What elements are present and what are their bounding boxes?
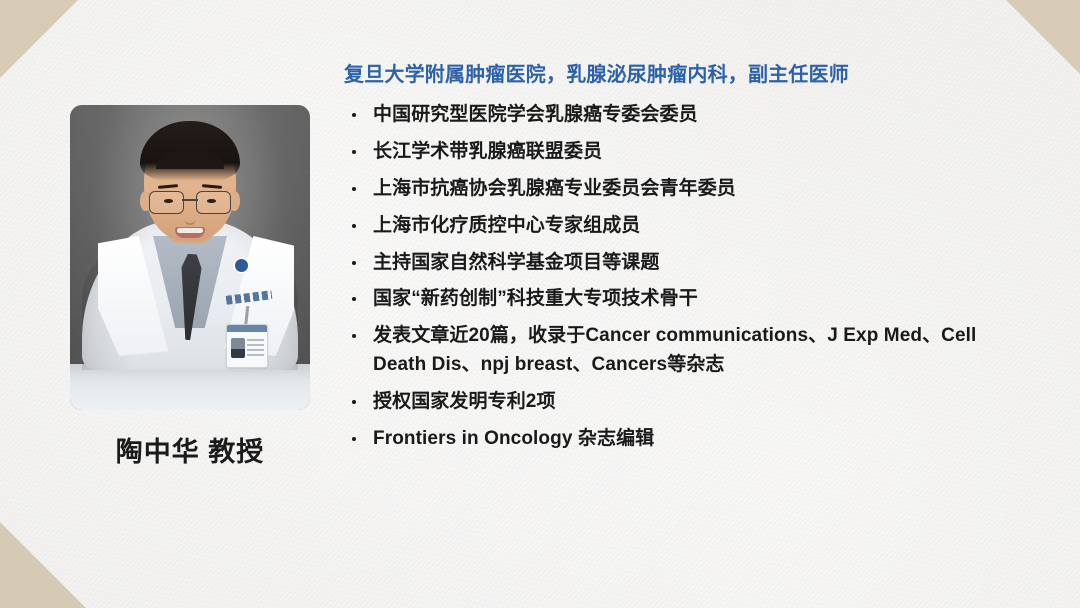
speaker-name-caption: 陶中华 教授 <box>70 430 310 469</box>
corner-triangle-top-left <box>0 0 78 78</box>
list-item-label: Frontiers in Oncology 杂志编辑 <box>373 428 654 449</box>
eyebrow-right <box>202 184 222 189</box>
bullet-dot-icon <box>352 187 356 191</box>
eye-left <box>164 199 173 203</box>
list-item: 发表文章近20篇，收录于Cancer communications、J Exp … <box>344 322 1023 380</box>
portrait-table-surface <box>70 364 310 410</box>
list-item: Frontiers in Oncology 杂志编辑 <box>344 425 1044 454</box>
portrait-image <box>70 105 310 410</box>
eye-right <box>207 199 216 203</box>
list-item: 国家“新药创制”科技重大专项技术骨干 <box>344 285 1044 314</box>
list-item-label: 中国研究型医院学会乳腺癌专委会委员 <box>373 104 698 125</box>
slide-canvas: 陶中华 教授 复旦大学附属肿瘤医院，乳腺泌尿肿瘤内科，副主任医师 中国研究型医院… <box>0 0 1080 608</box>
list-item: 授权国家发明专利2项 <box>344 388 1044 417</box>
bullet-dot-icon <box>352 224 356 228</box>
list-item-label: 长江学术带乳腺癌联盟委员 <box>373 141 602 162</box>
id-badge-text-lines <box>247 339 264 357</box>
list-item-label: 上海市抗癌协会乳腺癌专业委员会青年委员 <box>373 178 736 199</box>
id-badge <box>226 324 268 368</box>
bullet-dot-icon <box>352 437 356 441</box>
list-item: 上海市化疗质控中心专家组成员 <box>344 212 1044 241</box>
portrait-figure <box>70 105 310 364</box>
eyeglass-lens-left <box>149 191 184 214</box>
profile-content: 复旦大学附属肿瘤医院，乳腺泌尿肿瘤内科，副主任医师 中国研究型医院学会乳腺癌专委… <box>344 62 1044 462</box>
credentials-list: 中国研究型医院学会乳腺癌专委会委员 长江学术带乳腺癌联盟委员 上海市抗癌协会乳腺… <box>344 101 1044 454</box>
list-item: 长江学术带乳腺癌联盟委员 <box>344 138 1044 167</box>
hospital-emblem-icon <box>235 259 248 272</box>
bullet-dot-icon <box>352 261 356 265</box>
corner-triangle-bottom-left <box>0 522 86 608</box>
eyebrow-left <box>158 184 178 189</box>
bullet-dot-icon <box>352 400 356 404</box>
affiliation-headline: 复旦大学附属肿瘤医院，乳腺泌尿肿瘤内科，副主任医师 <box>344 62 1044 89</box>
bullet-dot-icon <box>352 150 356 154</box>
list-item: 上海市抗癌协会乳腺癌专业委员会青年委员 <box>344 175 1044 204</box>
id-badge-header <box>227 325 267 332</box>
hair <box>140 121 240 181</box>
bullet-dot-icon <box>352 334 356 338</box>
list-item: 中国研究型医院学会乳腺癌专委会委员 <box>344 101 1044 130</box>
list-item-label: 主持国家自然科学基金项目等课题 <box>373 252 660 273</box>
mouth <box>175 227 205 238</box>
list-item-label: 授权国家发明专利2项 <box>373 391 556 412</box>
nose <box>184 209 196 225</box>
eyeglass-bridge <box>182 199 198 201</box>
list-item: 主持国家自然科学基金项目等课题 <box>344 249 1044 278</box>
eyeglass-lens-right <box>196 191 231 214</box>
bullet-dot-icon <box>352 113 356 117</box>
list-item-label: 国家“新药创制”科技重大专项技术骨干 <box>373 288 698 309</box>
list-item-label: 发表文章近20篇，收录于Cancer communications、J Exp … <box>373 325 976 375</box>
bullet-dot-icon <box>352 297 356 301</box>
portrait-photo <box>70 105 310 410</box>
id-badge-photo <box>231 338 245 358</box>
list-item-label: 上海市化疗质控中心专家组成员 <box>373 215 640 236</box>
